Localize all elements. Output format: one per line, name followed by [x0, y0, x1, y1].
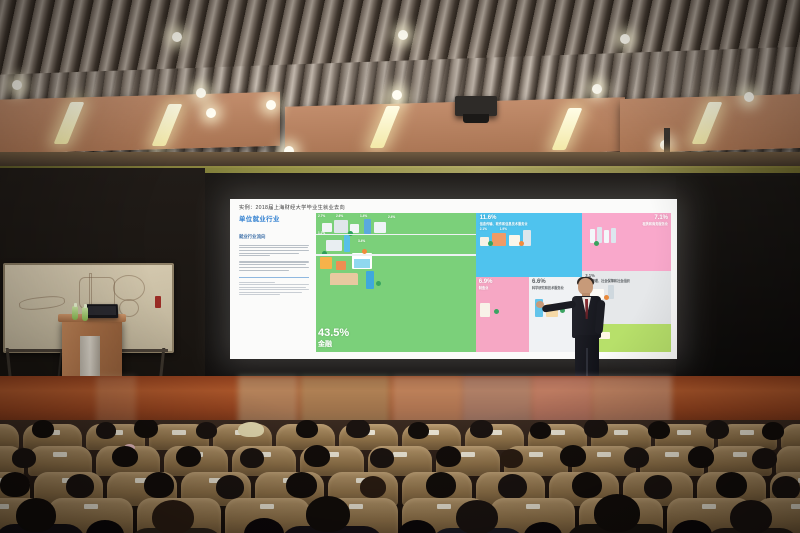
audience-head — [436, 446, 461, 467]
segment-realestate-value: 2.6% — [336, 214, 343, 218]
presenter — [556, 278, 618, 383]
slide-title: 实例：2018届上海财经大学毕业生就业去向 — [230, 199, 677, 213]
audience-head — [572, 472, 602, 498]
audience-head — [498, 474, 527, 499]
audience-head — [772, 476, 800, 500]
auditorium-scene: 上海财经大学 实例：2018届上海财经大学毕业生就业去向 单位就业行业 就业行业… — [0, 0, 800, 533]
audience-head — [560, 445, 586, 467]
presenter-left-hand — [536, 301, 544, 308]
audience-head — [716, 472, 747, 498]
slide-left-footnote — [239, 282, 309, 296]
audience-head — [762, 422, 784, 440]
audience-head — [426, 472, 456, 498]
audience-head — [644, 475, 672, 499]
audience-head — [0, 472, 30, 497]
ceiling-downlight — [172, 32, 182, 42]
audience-head — [456, 500, 498, 533]
whiteboard-magnet — [155, 296, 161, 308]
ceiling-downlight — [266, 100, 276, 110]
ceiling-projector — [455, 96, 497, 116]
audience-head — [500, 449, 523, 468]
audience-head — [346, 420, 370, 438]
presenter-laptop[interactable] — [86, 304, 119, 318]
audience-head — [96, 422, 116, 439]
audience-head — [286, 472, 317, 498]
ceiling-downlight — [206, 108, 216, 118]
audience-head — [584, 420, 608, 438]
ceiling — [0, 0, 800, 152]
segment-finance: 43.5% 金融 2.7% 2.6% 1.4% 2.4% 1.2% 3.4% — [316, 213, 476, 352]
audience-head — [752, 448, 777, 469]
segment-it: 11.6% 信息传输、软件和信息技术服务业 2.1% 1.9% — [476, 213, 583, 277]
audience-head — [306, 496, 350, 532]
audience-head — [16, 498, 56, 532]
audience-head — [688, 446, 714, 468]
audience-head — [706, 420, 729, 439]
slide-left-bodytext — [239, 245, 309, 257]
segment-leasing: 7.1% 租赁和商务服务业 — [582, 213, 671, 271]
audience-head — [134, 420, 158, 438]
segment-transport-value: 2.1% — [480, 227, 487, 231]
ceiling-downlight — [620, 34, 630, 44]
audience-head — [370, 448, 394, 468]
stage-curtain — [676, 176, 800, 376]
audience-head — [624, 447, 649, 468]
ceiling-downlight — [592, 84, 602, 94]
segment-finance-value: 43.5% 金融 — [318, 327, 349, 349]
segment-education-value: 3.4% — [358, 239, 365, 243]
audience-head — [196, 422, 217, 439]
audience-head — [470, 420, 493, 438]
slide-left-heading: 单位就业行业 — [239, 216, 309, 225]
ceiling-downlight — [12, 80, 22, 90]
slide-left-divider — [239, 277, 309, 278]
slide-left-column: 单位就业行业 就业行业流向 — [237, 213, 313, 352]
audience-head — [112, 446, 138, 467]
audience-head — [530, 422, 551, 439]
segment-it-value: 11.6% 信息传输、软件和信息技术服务业 — [480, 215, 528, 226]
audience-head — [304, 445, 330, 467]
audience-head — [408, 422, 429, 439]
presenter-right-arm — [595, 300, 606, 335]
audience-head — [32, 420, 54, 438]
segment-manufacturing: 6.9% 制造业 — [476, 277, 529, 352]
audience-head — [594, 494, 640, 532]
water-bottle[interactable] — [82, 307, 88, 321]
water-bottle[interactable] — [72, 306, 78, 320]
audience — [0, 420, 800, 533]
pendant-lamp — [664, 128, 670, 152]
ceiling-downlight — [744, 92, 754, 102]
audience-head — [296, 420, 318, 438]
audience-head — [216, 475, 244, 499]
ceiling-beam — [0, 92, 280, 152]
audience-head — [240, 448, 264, 468]
segment-health-value: 1.4% — [360, 214, 367, 218]
audience-head — [12, 448, 36, 468]
ceiling-downlight — [398, 30, 408, 40]
audience-head — [648, 421, 670, 439]
segment-leasing-value: 7.1% 租赁和商务服务业 — [643, 215, 669, 226]
slide-left-subheading: 就业行业流向 — [239, 234, 309, 240]
audience-head — [144, 472, 174, 498]
audience-head — [360, 476, 386, 498]
audience-head — [730, 500, 772, 533]
ceiling-downlight — [196, 88, 206, 98]
segment-construction-value: 2.4% — [388, 215, 395, 219]
slide-left-bodytext — [239, 261, 309, 270]
audience-hat — [238, 422, 264, 437]
audience-head — [66, 474, 94, 498]
segment-culture-value: 1.9% — [500, 227, 507, 231]
audience-head — [152, 500, 194, 533]
segment-wholesale-value: 2.7% — [318, 214, 325, 218]
presenter-leg-gap — [586, 348, 588, 378]
ceiling-downlight — [392, 90, 402, 100]
segment-manufacturing-value: 6.9% 制造业 — [479, 279, 493, 290]
audience-head — [176, 446, 201, 467]
